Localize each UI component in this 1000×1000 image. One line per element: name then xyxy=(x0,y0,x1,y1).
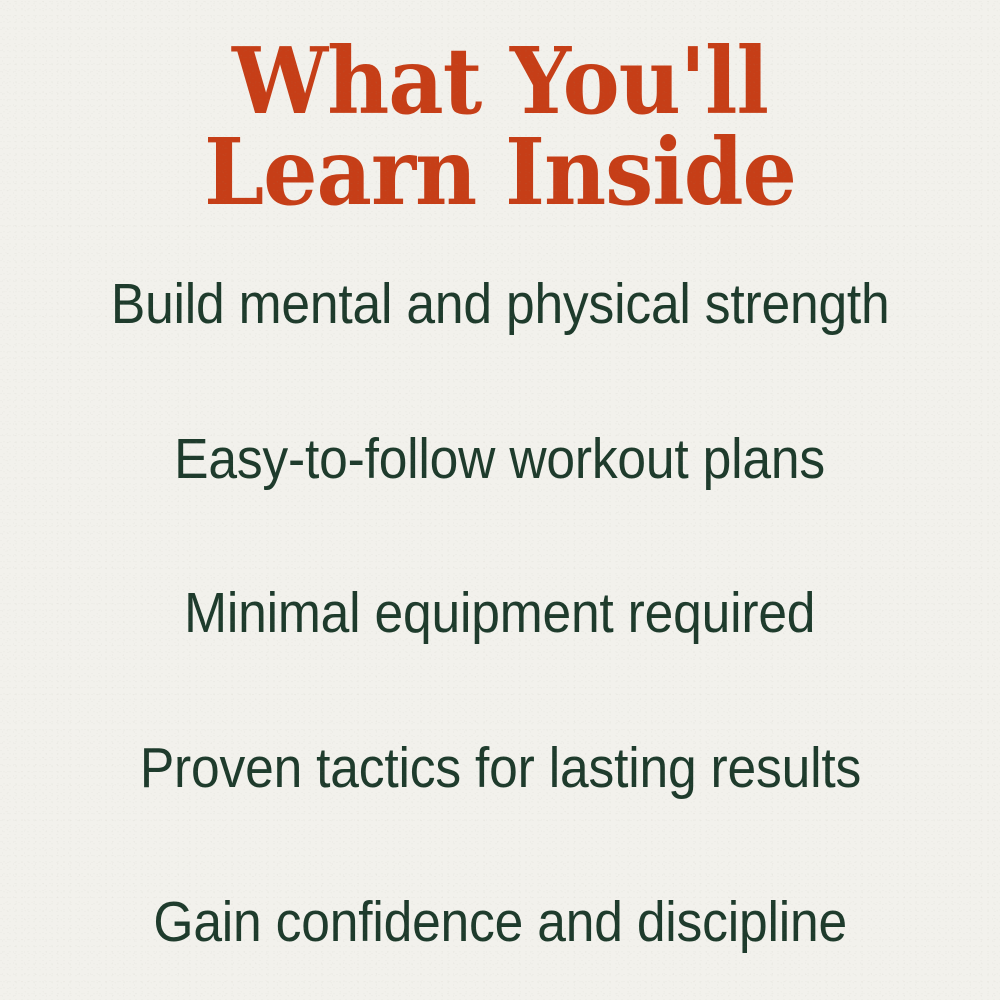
benefit-label-1: Build mental and physical strength xyxy=(111,275,890,335)
benefit-label-3: Minimal equipment required xyxy=(184,584,815,644)
benefit-label-2: Easy-to-follow workout plans xyxy=(175,430,826,490)
benefit-label-4: Proven tactics for lasting results xyxy=(139,739,860,799)
list-item: Gain confidence and discipline xyxy=(0,846,1000,1000)
benefits-list: Build mental and physical strength Easy-… xyxy=(0,228,1000,1000)
list-item: Minimal equipment required xyxy=(0,537,1000,691)
page-title-line-1: What You'll xyxy=(35,36,965,127)
benefits-poster: What You'll Learn Inside Build mental an… xyxy=(0,0,1000,1000)
benefit-label-5: Gain confidence and discipline xyxy=(153,893,847,953)
page-title-line-2: Learn Inside xyxy=(35,127,965,218)
list-item: Easy-to-follow workout plans xyxy=(0,382,1000,536)
list-item: Proven tactics for lasting results xyxy=(0,691,1000,845)
list-item: Build mental and physical strength xyxy=(0,228,1000,382)
page-title: What You'll Learn Inside xyxy=(0,36,1000,218)
